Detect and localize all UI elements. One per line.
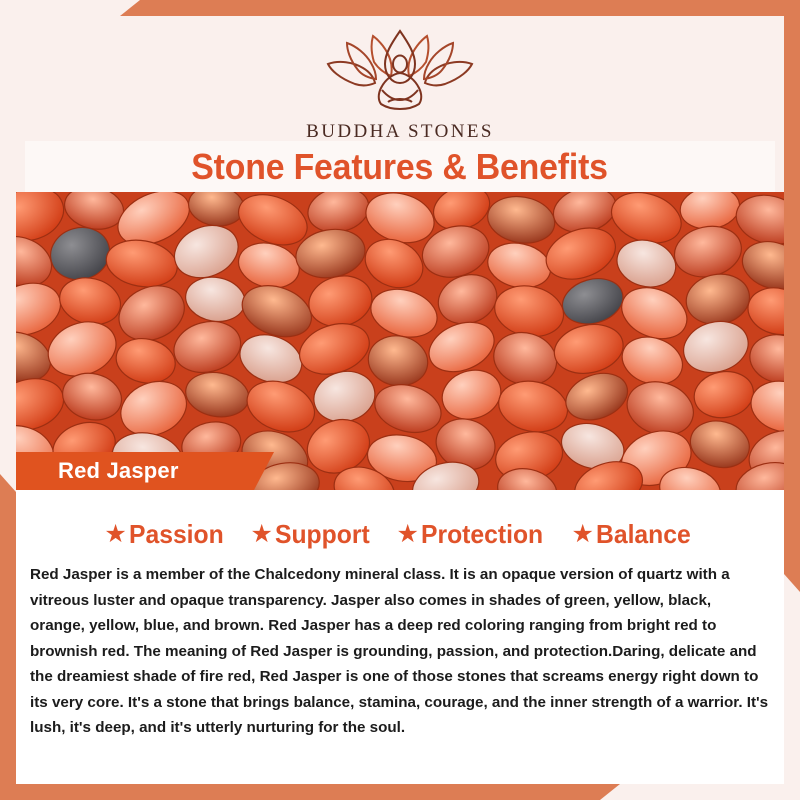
- benefit-label: Passion: [129, 519, 224, 550]
- title-band: Stone Features & Benefits: [25, 141, 775, 193]
- frame-band-bottom: [0, 784, 620, 800]
- stone-name-label: Red Jasper: [58, 458, 179, 484]
- page-title: Stone Features & Benefits: [192, 146, 609, 188]
- brand-header: BUDDHA STONES: [16, 26, 784, 143]
- brand-name: BUDDHA STONES: [306, 121, 494, 143]
- benefit-item-support: ★ Support: [250, 519, 374, 550]
- lotus-buddha-icon: [325, 26, 475, 117]
- star-icon: ★: [250, 522, 272, 547]
- stone-description: Red Jasper is a member of the Chalcedony…: [30, 562, 770, 741]
- poster-card: BUDDHA STONES Stone Features & Benefits: [16, 16, 784, 784]
- frame-band-right: [784, 0, 800, 592]
- star-icon: ★: [104, 522, 126, 547]
- benefit-item-protection: ★ Protection: [397, 519, 550, 550]
- benefits-row: ★ Passion ★ Support ★ Protection ★ Balan…: [16, 506, 784, 556]
- stone-info-poster: BUDDHA STONES Stone Features & Benefits: [0, 0, 800, 800]
- hero-stone-image: [16, 192, 784, 490]
- star-icon: ★: [572, 522, 594, 547]
- benefit-item-passion: ★ Passion: [104, 519, 228, 550]
- benefit-label: Balance: [596, 519, 691, 550]
- content-area: ★ Passion ★ Support ★ Protection ★ Balan…: [16, 490, 784, 784]
- frame-band-top: [120, 0, 800, 16]
- stone-name-ribbon: Red Jasper: [16, 452, 274, 490]
- star-icon: ★: [397, 522, 419, 547]
- benefit-label: Support: [275, 519, 370, 550]
- benefit-item-balance: ★ Balance: [572, 519, 696, 550]
- benefit-label: Protection: [421, 519, 543, 550]
- frame-band-left: [0, 474, 16, 800]
